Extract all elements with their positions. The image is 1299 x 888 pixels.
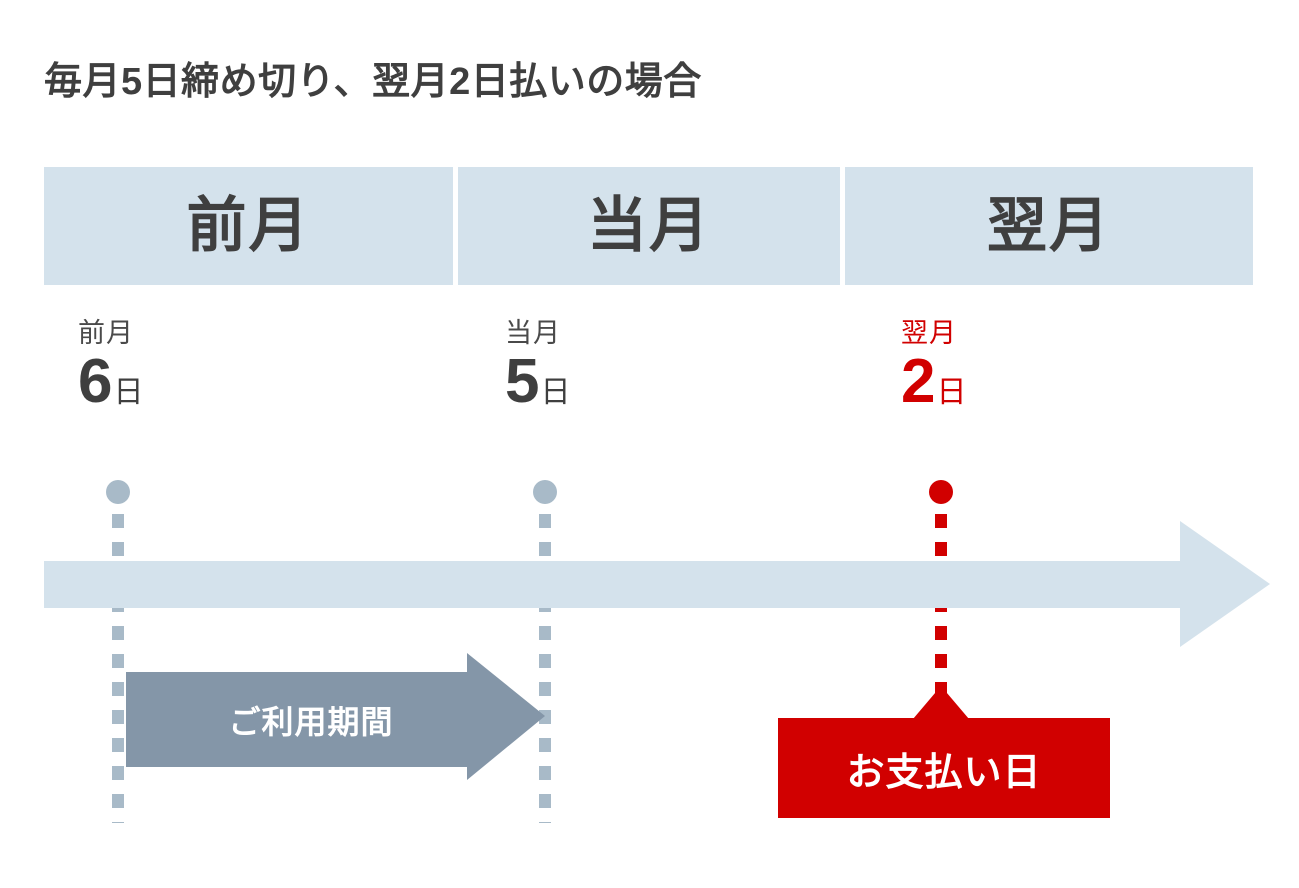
month-header-label: 前月 xyxy=(187,196,311,256)
milestone-next-month: 翌月 2日 xyxy=(901,318,1161,413)
usage-period-label: ご利用期間 xyxy=(186,672,436,767)
timeline-arrow-icon xyxy=(1180,521,1270,647)
milestone-dot-accent-icon xyxy=(929,480,953,504)
dashed-guide-line-accent xyxy=(935,514,947,710)
milestone-day-unit: 日 xyxy=(113,376,143,409)
timeline-diagram: 毎月5日締め切り、翌月2日払いの場合 前月 当月 翌月 前月 6日 当月 5日 … xyxy=(0,0,1299,888)
month-header-label: 当月 xyxy=(587,196,711,256)
milestone-day: 6日 xyxy=(78,351,338,413)
milestone-day-unit: 日 xyxy=(540,376,570,409)
month-header-label: 翌月 xyxy=(987,196,1111,256)
month-header-previous: 前月 xyxy=(44,167,453,285)
usage-period-arrow-icon xyxy=(467,653,545,780)
page-title: 毎月5日締め切り、翌月2日払いの場合 xyxy=(44,50,702,105)
usage-period-arrow: ご利用期間 xyxy=(126,653,545,780)
milestone-dot-icon xyxy=(106,480,130,504)
milestone-month-label: 翌月 xyxy=(901,318,1161,349)
milestone-current-month: 当月 5日 xyxy=(505,318,765,413)
payment-date-callout: お支払い日 xyxy=(778,718,1110,818)
milestone-day: 2日 xyxy=(901,351,1161,413)
payment-callout-pointer-icon xyxy=(913,686,969,719)
milestone-day: 5日 xyxy=(505,351,765,413)
payment-date-label: お支払い日 xyxy=(846,741,1041,796)
milestone-month-label: 当月 xyxy=(505,318,765,349)
timeline-axis-bar xyxy=(44,561,1180,608)
milestone-previous-month: 前月 6日 xyxy=(78,318,338,413)
milestone-month-label: 前月 xyxy=(78,318,338,349)
milestone-day-number: 5 xyxy=(505,347,538,416)
milestone-day-unit: 日 xyxy=(936,376,966,409)
milestone-day-number: 6 xyxy=(78,347,111,416)
milestone-day-number: 2 xyxy=(901,347,934,416)
month-header-next: 翌月 xyxy=(845,167,1253,285)
month-header-current: 当月 xyxy=(458,167,840,285)
milestone-dot-icon xyxy=(533,480,557,504)
